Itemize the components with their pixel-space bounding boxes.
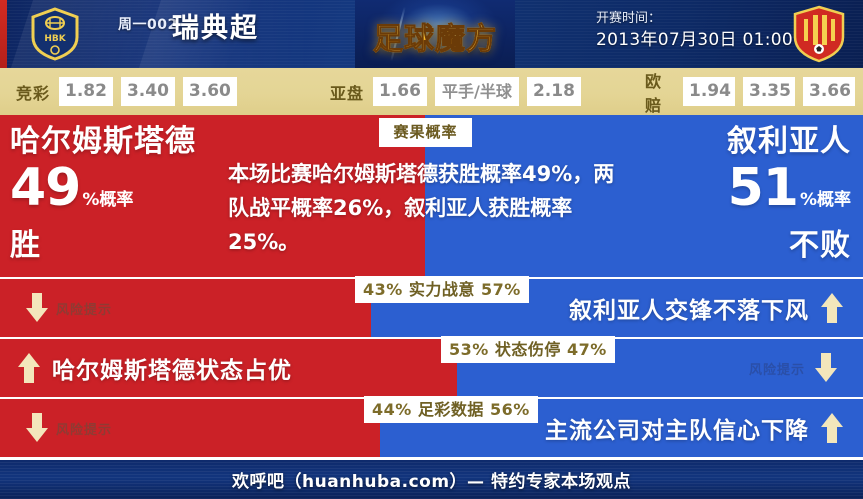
- home-probability-number: 49: [10, 158, 80, 218]
- stat-left-percent: 53%: [449, 340, 489, 359]
- odds-cell-handicap[interactable]: 平手/半球: [435, 77, 519, 106]
- risk-warning-label: 风险提示: [56, 299, 112, 318]
- odds-cell[interactable]: 1.66: [373, 77, 427, 106]
- away-probability-unit: %概率: [800, 190, 851, 210]
- odds-cell[interactable]: 3.35: [743, 77, 795, 106]
- stat-row: 53% 状态伤停 47% 哈尔姆斯塔德状态占优 风险提示: [0, 339, 863, 397]
- risk-warning-label: 风险提示: [749, 359, 805, 378]
- stat-verdict-label: 叙利亚人交锋不落下风: [569, 291, 809, 325]
- stat-right-percent: 56%: [490, 400, 530, 419]
- away-team-crest-icon: [791, 5, 847, 63]
- stat-left-percent: 43%: [363, 280, 403, 299]
- arrow-down-icon: [815, 353, 837, 383]
- odds-cell[interactable]: 2.18: [527, 77, 581, 106]
- risk-warning-left: 风险提示: [26, 399, 112, 457]
- match-number-label: 周一002: [118, 14, 178, 34]
- risk-warning-left: 风险提示: [26, 279, 112, 337]
- stat-label: 足彩数据: [418, 400, 484, 419]
- main-probability-panel: 赛果概率 哈尔姆斯塔德 49%概率 胜 叙利亚人 51%概率 不败 本场比赛哈尔…: [0, 115, 863, 277]
- result-probability-tag: 赛果概率: [379, 118, 472, 147]
- footer-bar: 欢呼吧（huanhuba.com）— 特约专家本场观点: [0, 460, 863, 499]
- stat-row-tag: 44% 足彩数据 56%: [364, 396, 538, 423]
- header-bar: HBK 周一002 瑞典超 足球魔方 开赛时间： 2013年07月30日 01:…: [0, 0, 863, 68]
- arrow-up-icon: [821, 293, 843, 323]
- away-outcome-word: 不败: [621, 227, 851, 265]
- brand-logo-panel[interactable]: 足球魔方: [355, 0, 515, 68]
- stat-verdict-right: 叙利亚人交锋不落下风: [569, 279, 843, 337]
- arrow-up-icon: [821, 413, 843, 443]
- home-probability-unit: %概率: [82, 190, 133, 210]
- stat-rows: 43% 实力战意 57% 风险提示 叙利亚人交锋不落下风 53% 状态伤停 47…: [0, 277, 863, 460]
- match-preview-infographic: HBK 周一002 瑞典超 足球魔方 开赛时间： 2013年07月30日 01:…: [0, 0, 863, 499]
- odds-group-yapan: 亚盘 1.66 平手/半球 2.18: [330, 68, 589, 115]
- odds-group-jingcai: 竞彩 1.82 3.40 3.60: [16, 68, 245, 115]
- stat-row-tag: 53% 状态伤停 47%: [441, 336, 615, 363]
- stat-verdict-label: 哈尔姆斯塔德状态占优: [52, 351, 292, 385]
- stat-row-tag: 43% 实力战意 57%: [355, 276, 529, 303]
- stat-left-percent: 44%: [372, 400, 412, 419]
- stat-right-percent: 57%: [481, 280, 521, 299]
- stat-row: 43% 实力战意 57% 风险提示 叙利亚人交锋不落下风: [0, 279, 863, 337]
- stat-verdict-right: 主流公司对主队信心下降: [545, 399, 843, 457]
- odds-cell[interactable]: 3.60: [183, 77, 237, 106]
- home-probability-value: 49%概率: [10, 161, 228, 227]
- odds-group-title: 竞彩: [16, 80, 50, 104]
- home-team-crest-icon: HBK: [28, 7, 82, 61]
- away-probability-block: 叙利亚人 51%概率 不败: [621, 123, 851, 265]
- kickoff-label: 开赛时间：: [596, 9, 793, 28]
- odds-cell[interactable]: 1.82: [59, 77, 113, 106]
- footer-credit-text: 欢呼吧（huanhuba.com）— 特约专家本场观点: [0, 460, 863, 499]
- home-team-name: 哈尔姆斯塔德: [10, 123, 228, 161]
- stat-label: 状态伤停: [495, 340, 561, 359]
- odds-group-title: 亚盘: [330, 80, 364, 104]
- odds-bar: 竞彩 1.82 3.40 3.60 亚盘 1.66 平手/半球 2.18 欧赔 …: [0, 68, 863, 115]
- brand-logo-text: 足球魔方: [355, 14, 515, 58]
- kickoff-info: 开赛时间： 2013年07月30日 01:00: [596, 9, 793, 52]
- arrow-down-icon: [26, 293, 48, 323]
- away-team-name: 叙利亚人: [621, 123, 851, 161]
- risk-warning-label: 风险提示: [56, 419, 112, 438]
- stat-label: 实力战意: [409, 280, 475, 299]
- header-red-accent-strip: [0, 0, 7, 68]
- odds-cell[interactable]: 3.66: [803, 77, 855, 106]
- stat-row: 44% 足彩数据 56% 风险提示 主流公司对主队信心下降: [0, 399, 863, 457]
- away-probability-value: 51%概率: [621, 161, 851, 227]
- odds-cell[interactable]: 1.94: [683, 77, 735, 106]
- stat-verdict-label: 主流公司对主队信心下降: [545, 411, 809, 445]
- stat-verdict-left: 哈尔姆斯塔德状态占优: [18, 339, 292, 397]
- kickoff-datetime: 2013年07月30日 01:00: [596, 28, 793, 52]
- svg-text:HBK: HBK: [44, 34, 66, 44]
- odds-cell[interactable]: 3.40: [121, 77, 175, 106]
- stat-right-percent: 47%: [567, 340, 607, 359]
- risk-warning-right: 风险提示: [749, 339, 837, 397]
- odds-group-title: 欧赔: [645, 68, 674, 116]
- league-name: 瑞典超: [172, 6, 259, 45]
- odds-group-oupei: 欧赔 1.94 3.35 3.66: [645, 68, 863, 115]
- home-outcome-word: 胜: [10, 227, 228, 265]
- probability-summary-text: 本场比赛哈尔姆斯塔德获胜概率49%，两队战平概率26%，叙利亚人获胜概率25%。: [228, 157, 618, 259]
- arrow-down-icon: [26, 413, 48, 443]
- away-probability-number: 51: [728, 158, 798, 218]
- arrow-up-icon: [18, 353, 40, 383]
- home-probability-block: 哈尔姆斯塔德 49%概率 胜: [10, 123, 228, 265]
